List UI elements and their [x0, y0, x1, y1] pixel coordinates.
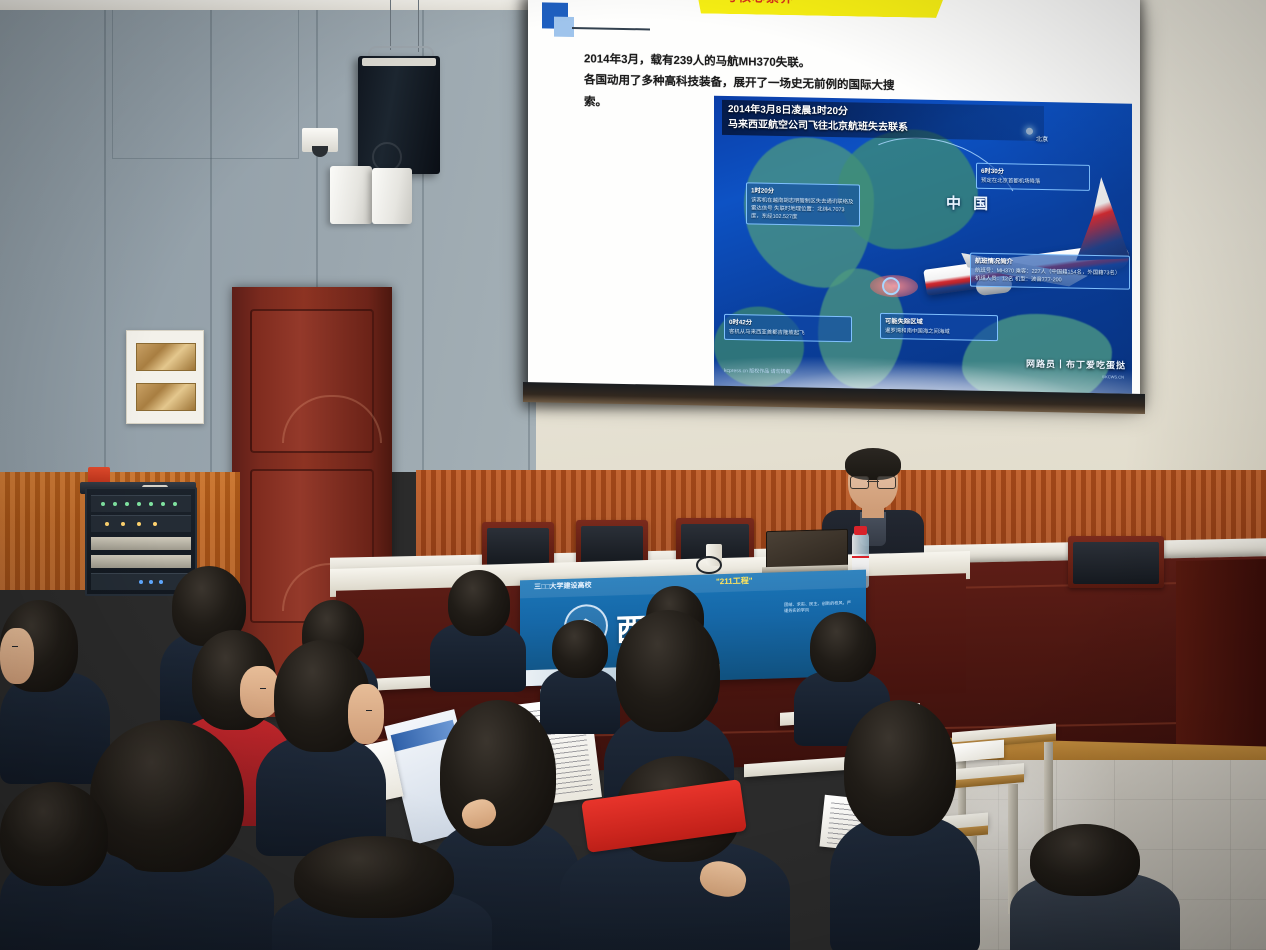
callout-text: 客机从马来西亚首都吉隆坡起飞	[729, 329, 804, 336]
door-arc-decor	[282, 395, 382, 443]
wall-plaque	[126, 330, 204, 424]
callout-text: 航班号：MH370 乘客：227人（中国籍154名，外国籍73名） 机组人员：1…	[975, 268, 1120, 284]
student-front-row	[830, 700, 980, 950]
callout-flight-info: 航班情况简介 航班号：MH370 乘客：227人（中国籍154名，外国籍73名）…	[970, 253, 1130, 290]
student-front-row	[272, 836, 492, 950]
speaker-hang-wire	[418, 0, 419, 52]
banner-top-text: 三□□大学建设高校	[534, 580, 591, 592]
stage-chair[interactable]	[1068, 536, 1164, 588]
callout-time: 可能失踪区域	[885, 317, 993, 328]
door-panel-upper	[250, 309, 374, 453]
plaque-panel-bottom	[136, 383, 196, 411]
water-bottle-cap	[854, 526, 867, 535]
lecture-hall-scene: 与核心素养 2014年3月，载有239人的马航MH370失联。 各国动用了多种高…	[0, 0, 1266, 950]
plaque-panel-top	[136, 343, 196, 371]
student-back-row	[430, 570, 526, 690]
microphone-icon	[696, 556, 722, 574]
slide-decor-line	[572, 27, 650, 30]
callout-lost-contact: 1时20分 该客机在越南胡志明管制区失去通讯联络及雷达信号 失联时地理位置：北纬…	[746, 182, 860, 227]
slide-decor-square-light	[554, 17, 574, 37]
projection-screen: 与核心素养 2014年3月，载有239人的马航MH370失联。 各国动用了多种高…	[528, 0, 1140, 400]
wall-speaker-right-icon	[372, 168, 412, 224]
callout-text: 预定在北京首都机场降落	[981, 178, 1040, 185]
watermark-main: 网路员丨布丁爱吃蛋挞	[1026, 357, 1126, 372]
last-contact-node	[882, 277, 900, 295]
presenter-glasses-icon	[850, 476, 896, 487]
rack-unit	[91, 515, 191, 532]
callout-time: 航班情况简介	[975, 257, 1125, 269]
student-front-row	[1010, 824, 1180, 950]
student-mid-row	[256, 640, 386, 850]
infographic-title: 2014年3月8日凌晨1时20分 马来西亚航空公司飞往北京航班失去联系	[722, 100, 1044, 141]
mh370-infographic: 北京 中 国 2014年3月8日凌晨1时20分 马来西亚航空公司飞往北京航班失去…	[714, 96, 1132, 394]
callout-possible-area: 可能失踪区域 暹罗湾和南中国海之间海域	[880, 313, 998, 342]
student-front-row	[560, 756, 790, 950]
speaker-hang-wire	[390, 0, 391, 50]
hanging-speaker-icon	[358, 56, 440, 174]
callout-text: 暹罗湾和南中国海之间海域	[885, 328, 950, 335]
wall-speaker-left-icon	[330, 166, 372, 224]
callout-time: 0时42分	[729, 318, 847, 330]
callout-departure: 0时42分 客机从马来西亚首都吉隆坡起飞	[724, 314, 852, 343]
callout-time: 6时30分	[981, 167, 1085, 178]
callout-scheduled-arrival: 6时30分 预定在北京首都机场降落	[976, 163, 1090, 192]
watermark-small: ©KCWS.CN	[1102, 374, 1124, 379]
banner-211-badge: "211工程"	[716, 575, 753, 587]
rack-unit-light	[91, 537, 191, 550]
callout-time: 1时20分	[751, 186, 855, 197]
callout-text: 该客机在越南胡志明管制区失去通讯联络及雷达信号 失联时地理位置：北纬4.7073…	[751, 198, 853, 221]
rack-unit	[91, 495, 191, 512]
watermark-source: kcpress.cn 版权作品 请勿转载	[724, 367, 791, 375]
presentation-slide: 与核心素养 2014年3月，载有239人的马航MH370失联。 各国动用了多种高…	[528, 0, 1140, 400]
student-front-row	[0, 782, 150, 950]
